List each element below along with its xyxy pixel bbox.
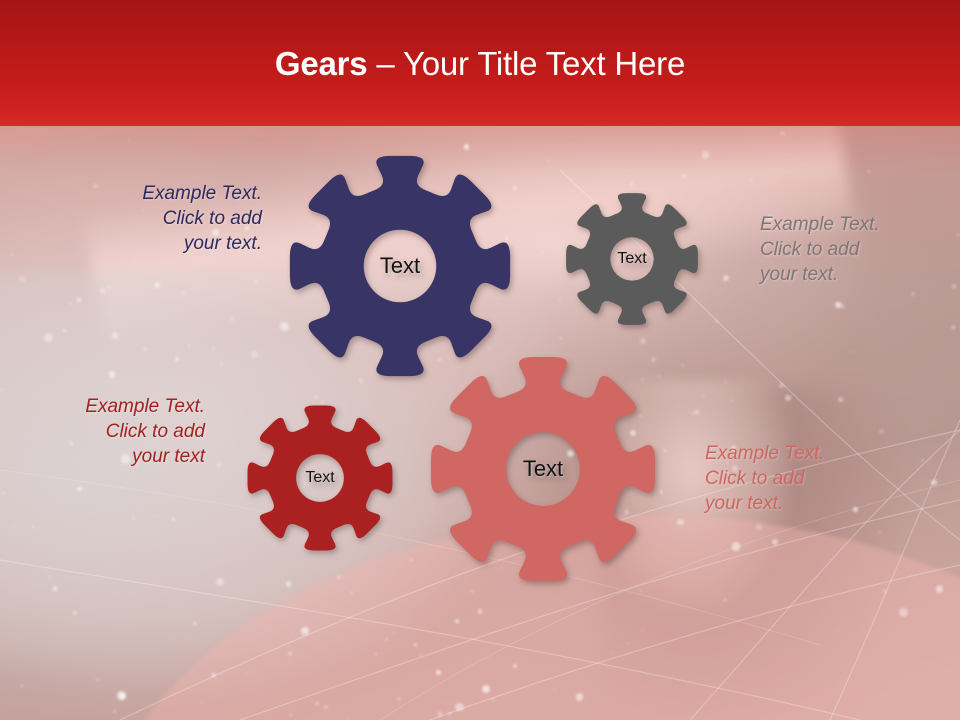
gear-salmon[interactable]: Text [424, 350, 662, 588]
gear-gray-shape [562, 189, 702, 329]
title-bold-part: Gears [275, 45, 368, 82]
caption-top-left[interactable]: Example Text. Click to add your text. [30, 181, 262, 256]
gear-salmon-shape [424, 350, 662, 588]
caption-bottom-right[interactable]: Example Text. Click to add your text. [705, 441, 920, 516]
caption-bottom-left[interactable]: Example Text. Click to add your text [0, 394, 205, 469]
gear-navy[interactable]: Text [283, 149, 517, 383]
gear-navy-shape [283, 149, 517, 383]
page-title: Gears – Your Title Text Here [0, 0, 960, 84]
gear-darkred-shape [243, 401, 397, 555]
title-rest-part: – Your Title Text Here [367, 45, 685, 82]
caption-top-right[interactable]: Example Text. Click to add your text. [760, 212, 960, 287]
gear-darkred[interactable]: Text [243, 401, 397, 555]
gear-gray[interactable]: Text [562, 189, 702, 329]
slide-canvas: Gears – Your Title Text Here Text Text T… [0, 0, 960, 720]
